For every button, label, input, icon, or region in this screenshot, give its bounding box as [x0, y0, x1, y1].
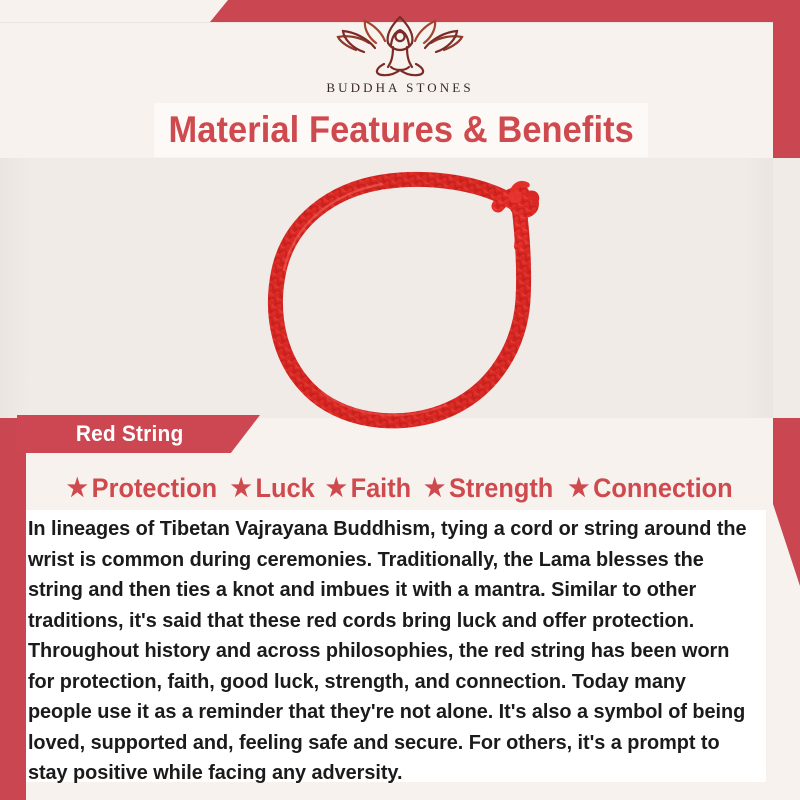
star-icon: ★: [326, 476, 347, 501]
star-icon: ★: [424, 476, 445, 501]
benefit-item: ★ Strength: [421, 473, 556, 504]
benefit-label: Faith: [351, 473, 412, 504]
hero-left-shade: [0, 158, 30, 418]
benefit-label: Protection: [91, 473, 217, 504]
lotus-meditation-icon: [336, 12, 464, 78]
benefit-item: ★ Faith: [323, 473, 414, 504]
brand-logo: BUDDHA STONES: [0, 12, 800, 96]
page-title: Material Features & Benefits: [168, 109, 633, 151]
benefit-item: ★ Connection: [566, 473, 736, 504]
brand-name: BUDDHA STONES: [326, 80, 473, 96]
benefit-item: ★ Protection: [64, 473, 220, 504]
description-text: In lineages of Tibetan Vajrayana Buddhis…: [26, 514, 750, 789]
description-panel: In lineages of Tibetan Vajrayana Buddhis…: [26, 510, 766, 782]
star-icon: ★: [569, 476, 590, 501]
product-label-banner: Red String: [17, 415, 260, 453]
infographic-page: BUDDHA STONES Material Features & Benefi…: [0, 0, 800, 800]
product-label: Red String: [76, 421, 184, 447]
hero-right-shade: [743, 158, 773, 418]
benefit-item: ★ Luck: [227, 473, 317, 504]
benefit-label: Connection: [593, 473, 733, 504]
benefits-row: ★ Protection ★ Luck ★ Faith ★ Strength ★…: [26, 466, 774, 510]
star-icon: ★: [66, 476, 87, 501]
title-banner: Material Features & Benefits: [154, 103, 648, 157]
benefit-label: Luck: [255, 473, 314, 504]
benefit-label: Strength: [449, 473, 553, 504]
star-icon: ★: [230, 476, 251, 501]
red-string-bracelet-photo: [232, 166, 568, 436]
